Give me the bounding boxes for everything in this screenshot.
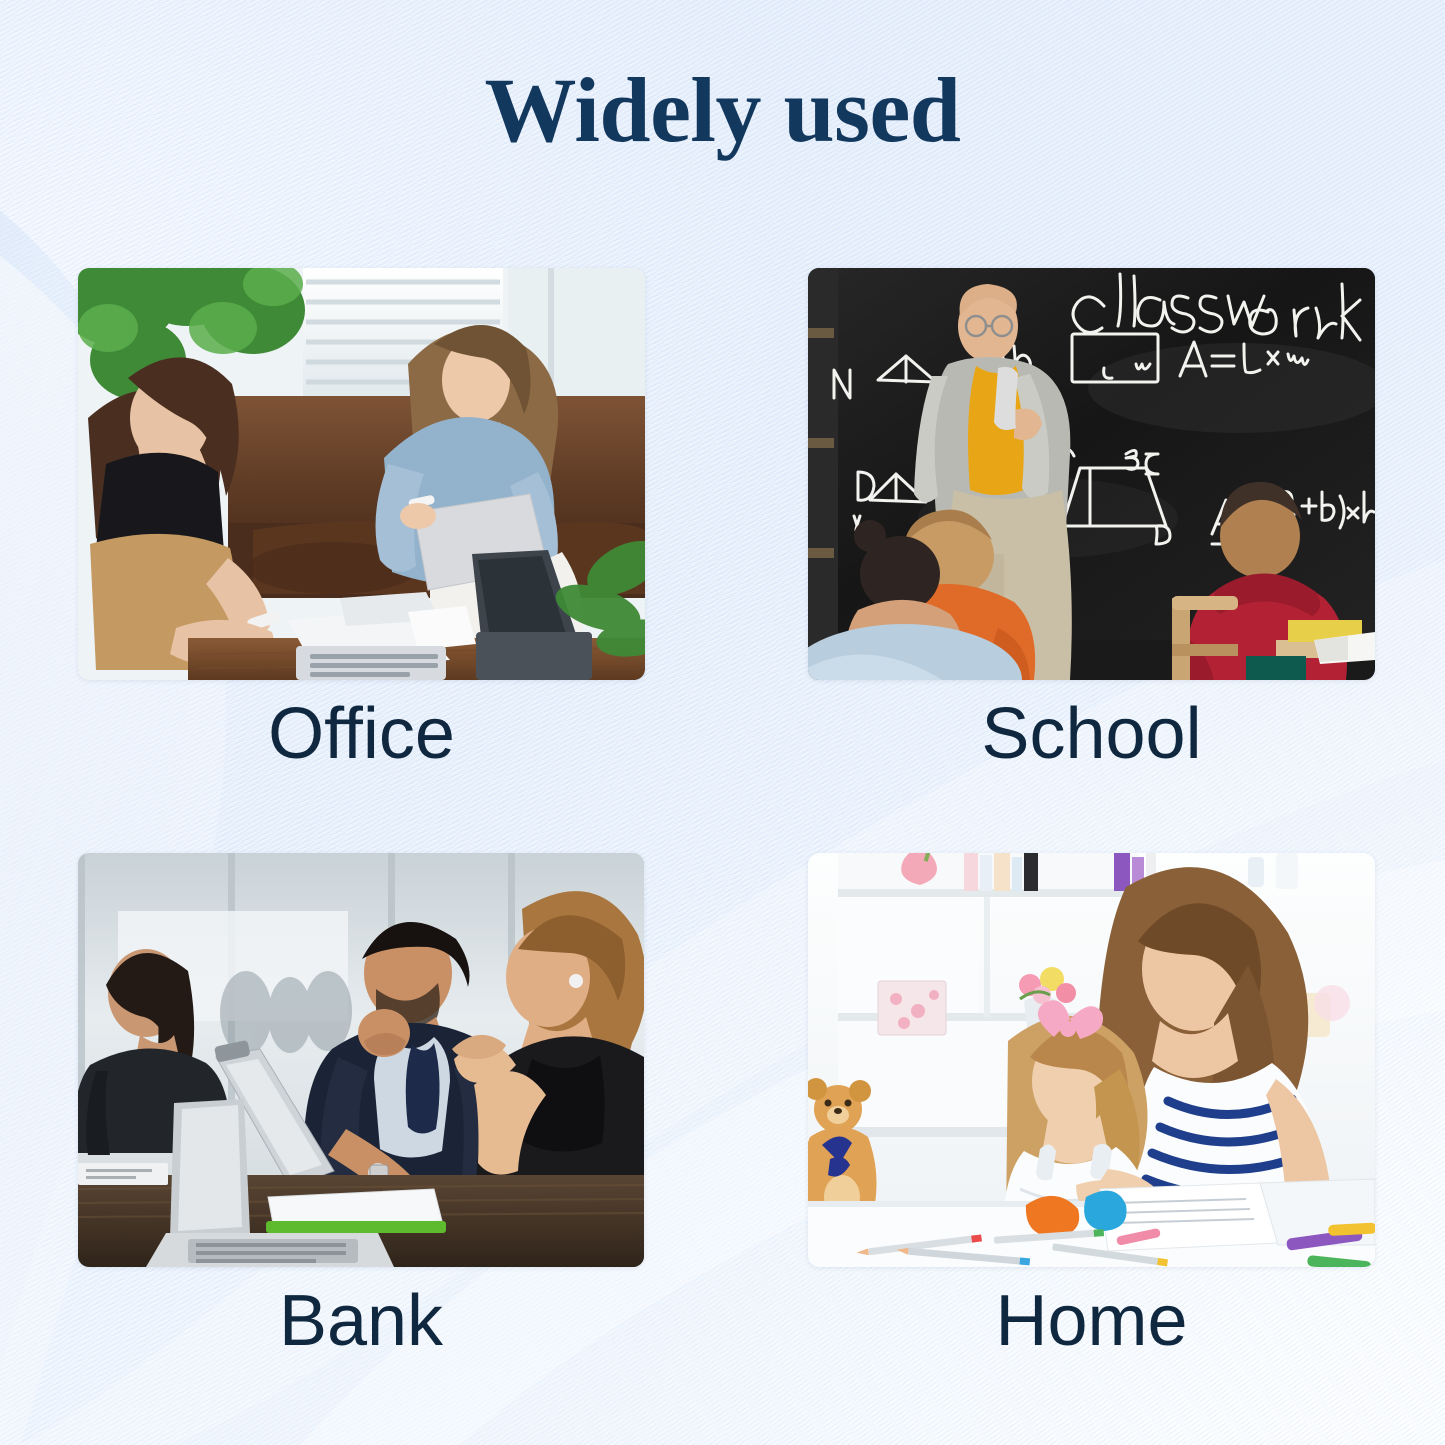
use-case-grid: Office	[0, 0, 1445, 1445]
promo-graphic: Widely used	[0, 0, 1445, 1445]
caption-office: Office	[78, 698, 645, 770]
photo-bank	[78, 853, 644, 1267]
caption-bank: Bank	[78, 1285, 644, 1357]
photo-home	[808, 853, 1375, 1267]
caption-home: Home	[808, 1285, 1375, 1357]
page-title: Widely used	[0, 62, 1445, 159]
photo-office	[78, 268, 645, 680]
photo-school	[808, 268, 1375, 680]
caption-school: School	[808, 698, 1375, 770]
